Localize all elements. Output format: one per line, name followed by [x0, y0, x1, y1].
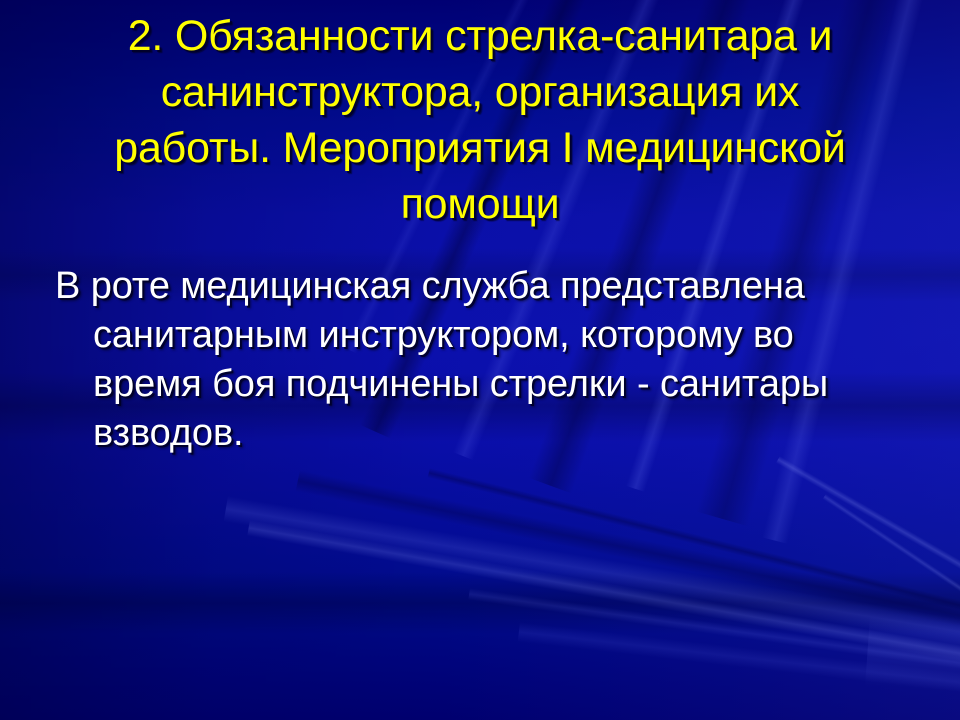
slide-title-line: санинструктора, организация их	[34, 64, 926, 120]
slide-body: В роте медицинская служба представлена с…	[0, 262, 960, 458]
slide-title-line: 2. Обязанности стрелка-санитара и	[34, 8, 926, 64]
slide-title: 2. Обязанности стрелка-санитара и санинс…	[34, 8, 926, 232]
presentation-slide: 2. Обязанности стрелка-санитара и санинс…	[0, 0, 960, 720]
slide-title-line: помощи	[34, 176, 926, 232]
slide-body-paragraph: В роте медицинская служба представлена с…	[0, 262, 960, 458]
slide-title-line: работы. Мероприятия I медицинской	[34, 120, 926, 176]
